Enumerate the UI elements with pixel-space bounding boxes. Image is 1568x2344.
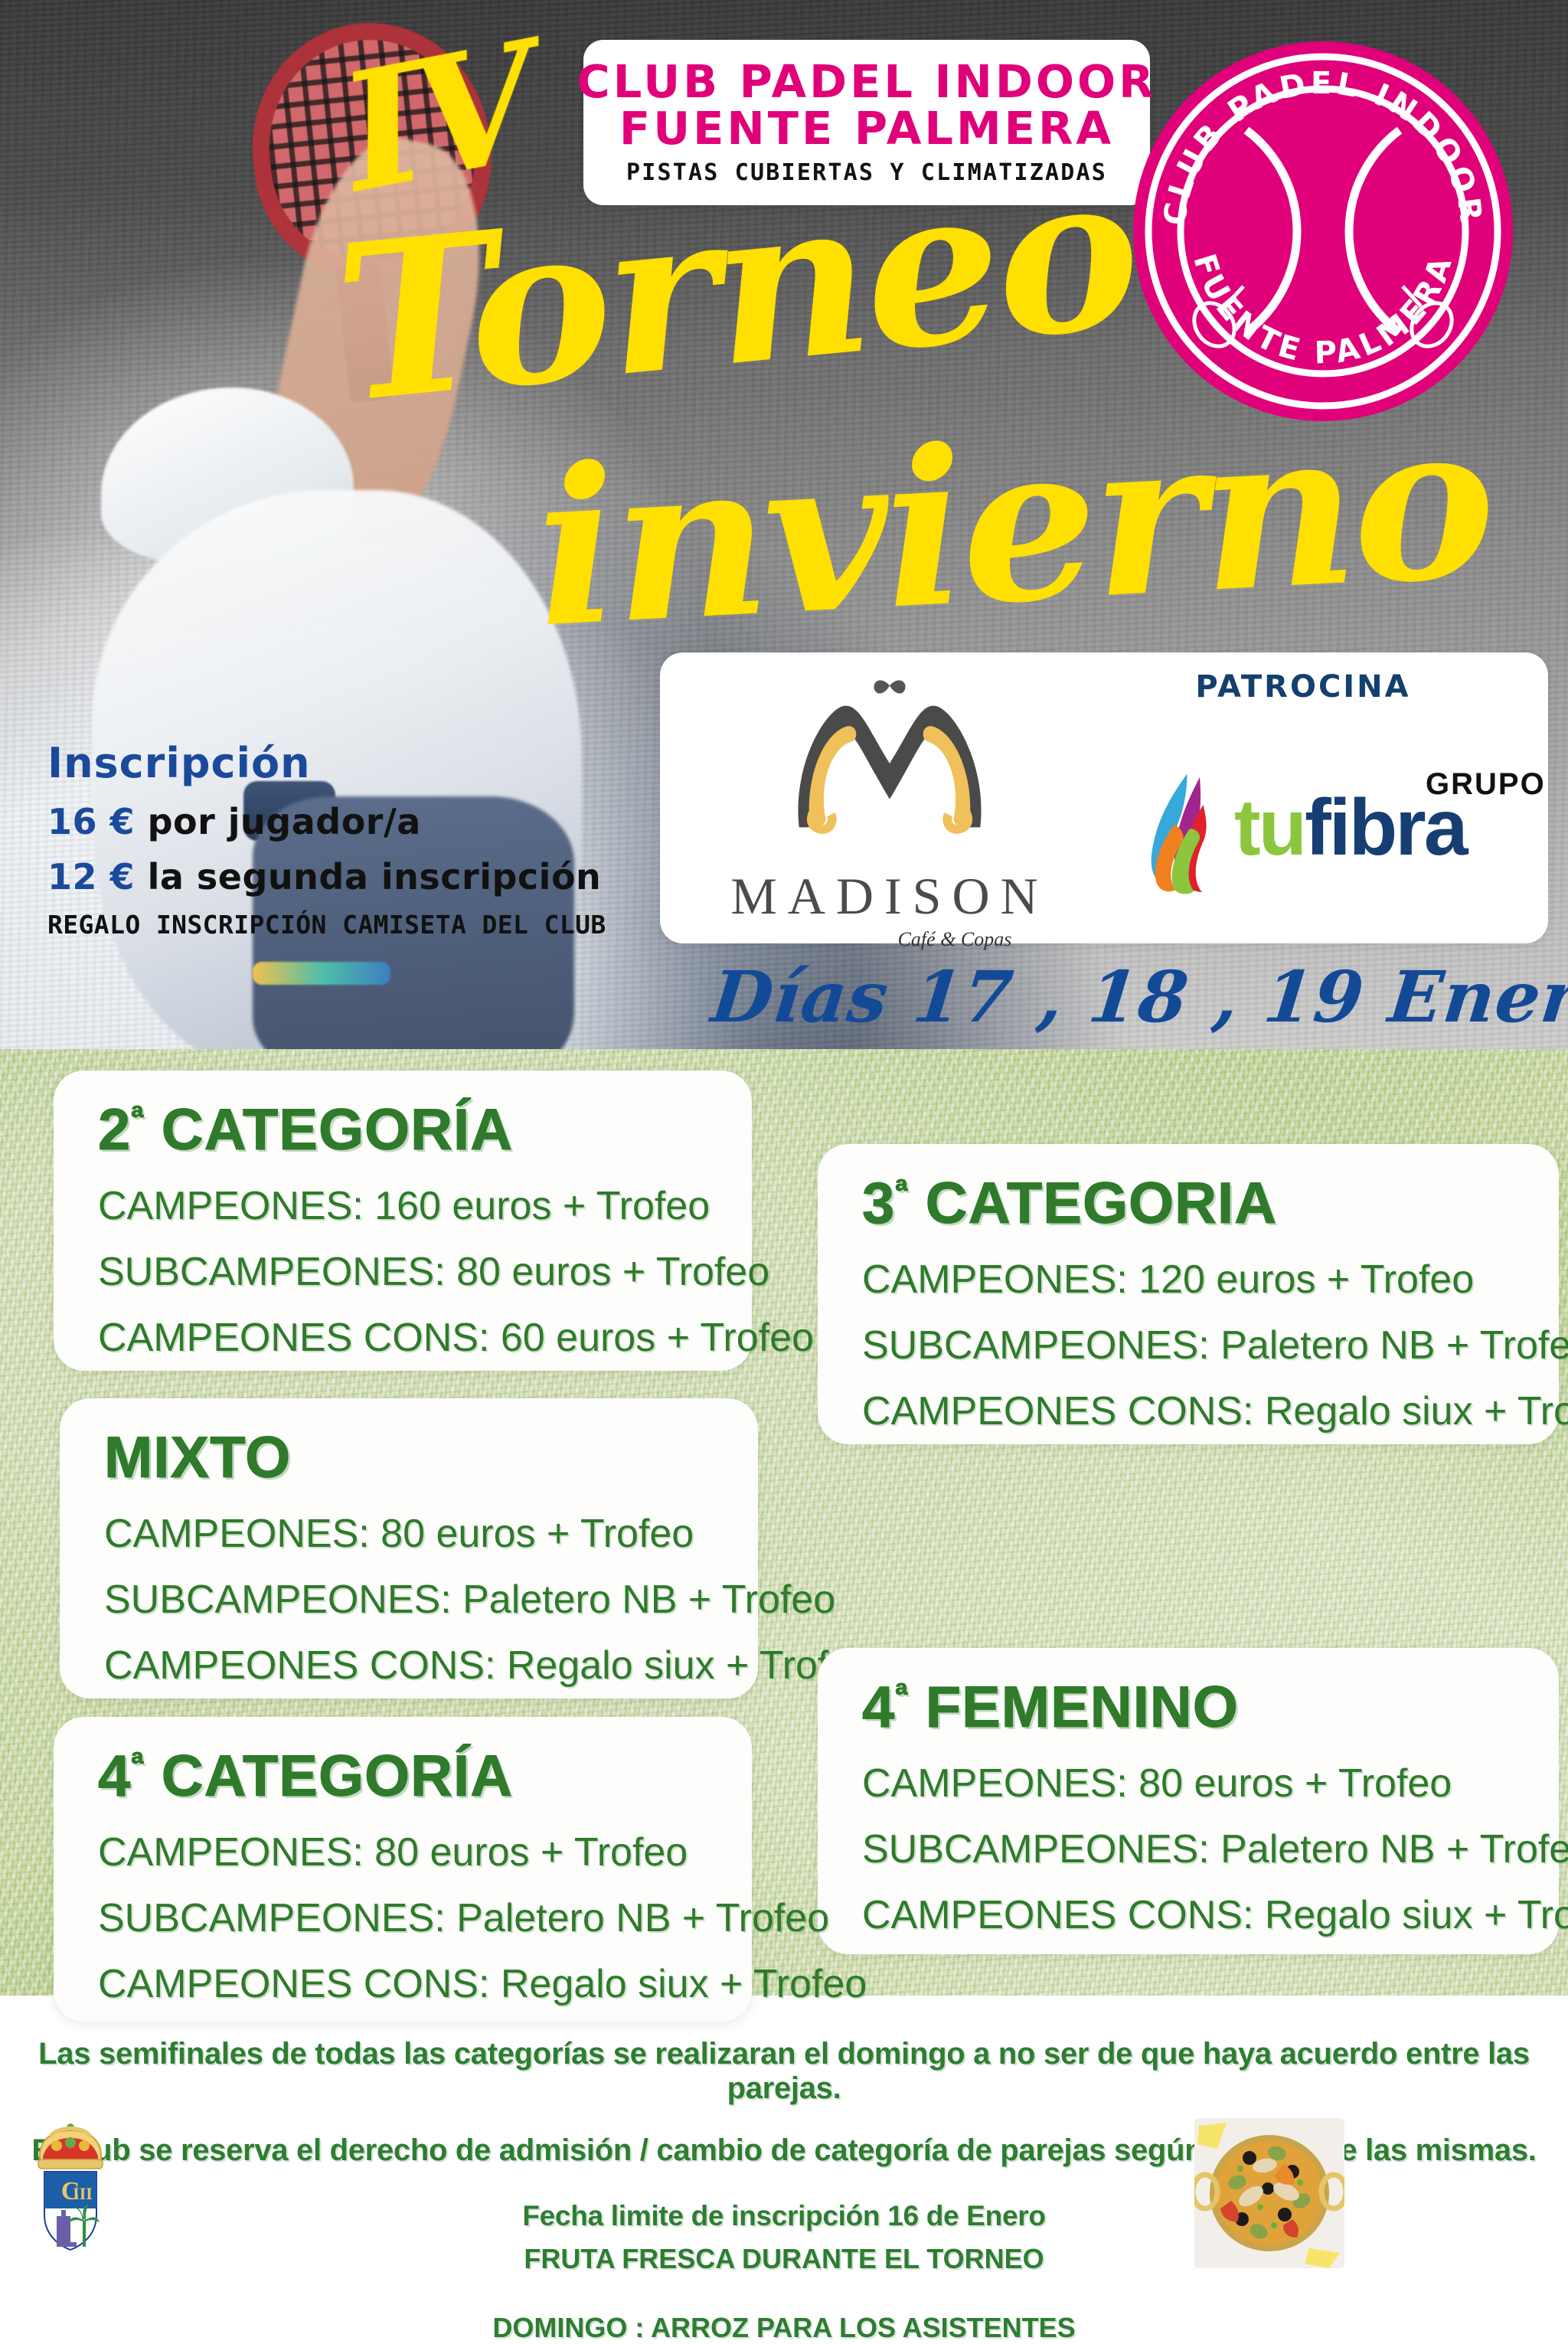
hero-section: IV Torneo invierno CLUB PADEL INDOOR FUE… <box>0 0 1568 1049</box>
inscripcion-row-1: 16 € por jugador/a <box>47 801 606 842</box>
patrocina-heading: PATROCINA <box>1150 669 1456 705</box>
inscripcion-text-2: la segunda inscripción <box>148 856 602 897</box>
tufibra-word-part2: fibra <box>1305 783 1465 872</box>
category-title-sup: ª <box>131 1100 144 1137</box>
prize-line: SUBCAMPEONES: Paletero NB + Trofeo <box>862 1826 1525 1872</box>
category-card-cat4: 4ª CATEGORÍA CAMPEONES: 80 euros + Trofe… <box>54 1717 752 2022</box>
title-invierno: invierno <box>531 404 1494 647</box>
category-title-number: 4 <box>98 1744 131 1809</box>
event-dates: Días 17 , 18 , 19 Enero <box>707 956 1568 1038</box>
inscripcion-block: Inscripción 16 € por jugador/a 12 € la s… <box>47 739 606 940</box>
paella-photo <box>1194 2118 1344 2268</box>
prize-line: CAMPEONES CONS: Regalo siux + Trofeo <box>104 1643 724 1689</box>
prize-line: CAMPEONES: 80 euros + Trofeo <box>104 1511 724 1557</box>
tufibra-logo: GRUPO tufibra <box>1119 752 1548 920</box>
category-title-number: 4 <box>862 1675 895 1740</box>
inscripcion-note: REGALO INSCRIPCIÓN CAMISETA DEL CLUB <box>47 910 606 940</box>
crest-numeral: III <box>73 2184 93 2203</box>
prize-line: CAMPEONES: 80 euros + Trofeo <box>862 1760 1525 1806</box>
tufibra-word-part1: tu <box>1234 783 1305 872</box>
category-title: 2ª CATEGORÍA <box>98 1097 718 1163</box>
prize-line: CAMPEONES: 80 euros + Trofeo <box>98 1829 718 1875</box>
inscripcion-row-2: 12 € la segunda inscripción <box>47 856 606 897</box>
inscripcion-title: Inscripción <box>47 739 606 787</box>
club-logo-badge: CLUB PADEL INDOOR FUENTE PALMERA <box>1132 40 1514 423</box>
category-title-number: 3 <box>862 1171 895 1236</box>
tufibra-flame-icon <box>1119 752 1234 913</box>
prize-line: SUBCAMPEONES: Paletero NB + Trofeo <box>104 1577 724 1623</box>
club-line1: CLUB PADEL INDOOR <box>577 59 1156 105</box>
category-title: MIXTO <box>104 1424 724 1491</box>
category-card-fem4: 4ª FEMENINO CAMPEONES: 80 euros + Trofeo… <box>818 1648 1559 1954</box>
madison-monogram-icon <box>737 668 1043 859</box>
inscripcion-amount-2: 12 € <box>47 856 135 897</box>
category-title-sup: ª <box>895 1173 908 1211</box>
category-title-rest: MIXTO <box>104 1425 291 1490</box>
prize-line: CAMPEONES: 120 euros + Trofeo <box>862 1257 1525 1303</box>
category-title-rest: CATEGORÍA <box>145 1097 513 1162</box>
prize-line: CAMPEONES: 160 euros + Trofeo <box>98 1183 718 1229</box>
category-title: 3ª CATEGORIA <box>862 1170 1525 1237</box>
category-title-sup: ª <box>895 1677 908 1715</box>
prize-line: CAMPEONES CONS: Regalo siux + Trofeo <box>862 1388 1525 1434</box>
footer-line-5: DOMINGO : ARROZ PARA LOS ASISTENTES <box>0 2312 1568 2344</box>
category-title-rest: FEMENINO <box>909 1675 1239 1740</box>
category-title-rest: CATEGORIA <box>909 1171 1277 1236</box>
category-title-number: 2 <box>98 1097 131 1162</box>
prize-line: SUBCAMPEONES: 80 euros + Trofeo <box>98 1249 718 1295</box>
sponsor-card: PATROCINA MADISON Café & Copas GRUPO <box>660 652 1548 943</box>
category-title: 4ª FEMENINO <box>862 1674 1525 1741</box>
category-title-rest: CATEGORÍA <box>145 1744 513 1809</box>
category-title-sup: ª <box>131 1746 144 1783</box>
category-card-cat2: 2ª CATEGORÍA CAMPEONES: 160 euros + Trof… <box>54 1071 752 1371</box>
madison-wordmark: MADISON <box>691 866 1089 927</box>
prize-line: CAMPEONES CONS: Regalo siux + Trofeo <box>98 1961 718 2007</box>
fuente-palmera-coat-of-arms-icon: C III <box>17 2120 124 2270</box>
prize-line: SUBCAMPEONES: Paletero NB + Trofeo <box>862 1322 1525 1368</box>
inscripcion-text-1: por jugador/a <box>148 801 421 842</box>
madison-tagline: Café & Copas <box>821 928 1089 951</box>
prize-line: CAMPEONES CONS: 60 euros + Trofeo <box>98 1315 718 1361</box>
prize-line: CAMPEONES CONS: Regalo siux + Trofeo <box>862 1892 1525 1938</box>
category-title: 4ª CATEGORÍA <box>98 1743 718 1809</box>
footer-line-1: Las semifinales de todas las categorías … <box>0 2037 1568 2106</box>
category-card-mixto: MIXTO CAMPEONES: 80 euros + Trofeo SUBCA… <box>60 1398 758 1698</box>
madison-logo: MADISON Café & Copas <box>691 668 1089 951</box>
category-card-cat3: 3ª CATEGORIA CAMPEONES: 120 euros + Trof… <box>818 1144 1559 1444</box>
edition-number: IV <box>328 7 549 228</box>
player-colorband <box>253 962 390 985</box>
prize-line: SUBCAMPEONES: Paletero NB + Trofeo <box>98 1895 718 1941</box>
inscripcion-amount-1: 16 € <box>47 801 135 842</box>
tufibra-wordmark: tufibra <box>1234 783 1466 874</box>
